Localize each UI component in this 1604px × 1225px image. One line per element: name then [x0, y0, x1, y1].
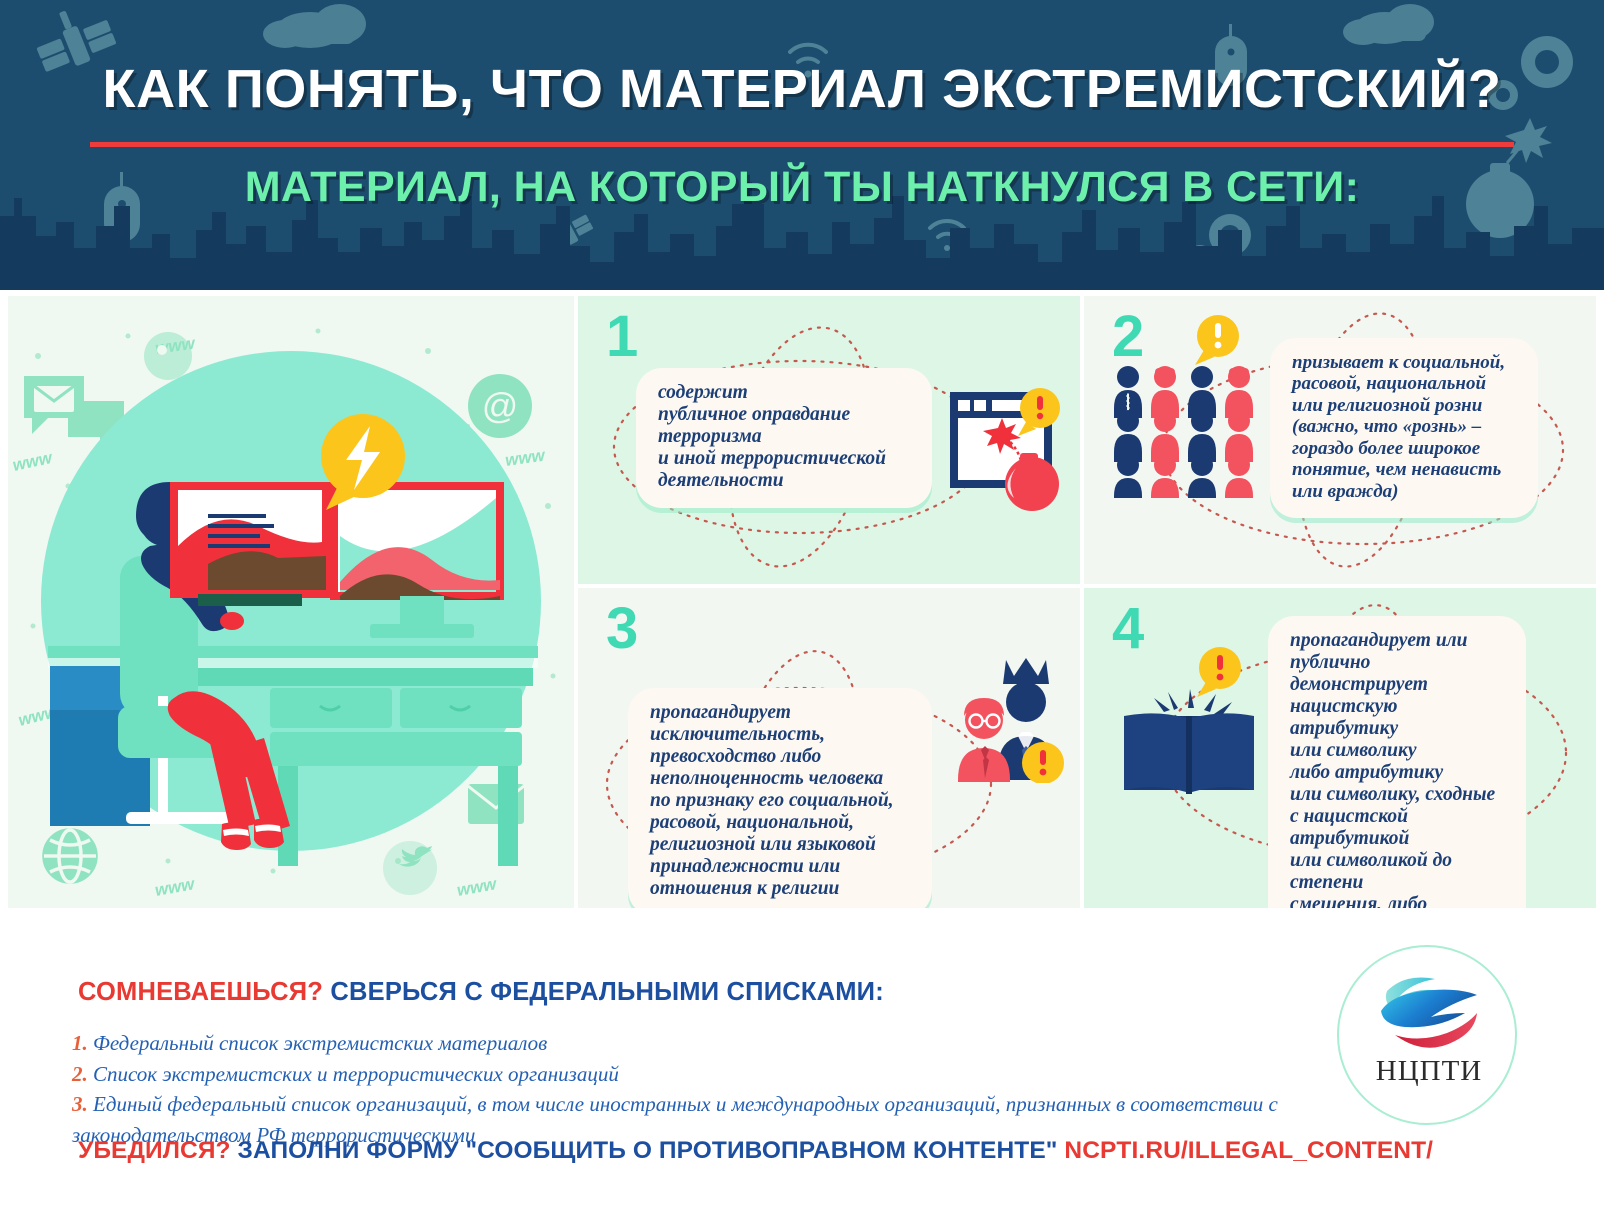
list-item: 2. Список экстремистских и террористичес… — [72, 1059, 1322, 1090]
svg-text:www: www — [504, 445, 548, 470]
footer-cta-url[interactable]: NCPTI.RU/ILLEGAL_CONTENT/ — [1064, 1137, 1433, 1164]
footer-heading-red: СОМНЕВАЕШЬСЯ? — [78, 978, 323, 1006]
globe-icon — [44, 830, 96, 882]
federal-lists: 1. Федеральный список экстремистских мат… — [72, 1028, 1322, 1151]
panel-3-text: пропагандирует исключительность, превосх… — [628, 688, 932, 908]
panel-3-number: 3 — [606, 600, 638, 658]
ncpti-emblem-icon — [1369, 971, 1489, 1063]
panel-2: 2 — [1084, 296, 1596, 584]
content-area: www www www www www www — [8, 296, 1596, 908]
at-sign-icon: @ — [468, 374, 532, 438]
ncpti-logo-text: НЦПТИ — [1339, 1055, 1519, 1088]
footer-heading-blue: СВЕРЬСЯ С ФЕДЕРАЛЬНЫМИ СПИСКАМИ: — [330, 978, 884, 1006]
footer-cta-blue: ЗАПОЛНИ ФОРМУ "СООБЩИТЬ О ПРОТИВОПРАВНОМ… — [238, 1137, 1058, 1164]
footer-cta: УБЕДИЛСЯ? ЗАПОЛНИ ФОРМУ "СООБЩИТЬ О ПРОТ… — [78, 1137, 1433, 1165]
bubble-decoration-icon — [144, 332, 192, 380]
svg-text:www: www — [455, 874, 499, 900]
page-title: КАК ПОНЯТЬ, ЧТО МАТЕРИАЛ ЭКСТРЕМИСТСКИЙ? — [0, 58, 1604, 120]
cloud-icon — [263, 4, 366, 48]
list-item-text: Федеральный список экстремистских матери… — [93, 1031, 547, 1055]
panel-4-text: пропагандирует или публично демонстрируе… — [1268, 616, 1526, 908]
open-book-with-warning-icon — [1112, 638, 1272, 798]
ncpti-logo: НЦПТИ — [1337, 945, 1517, 1125]
infographic-poster: КАК ПОНЯТЬ, ЧТО МАТЕРИАЛ ЭКСТРЕМИСТСКИЙ?… — [0, 0, 1604, 1225]
monitor-left — [174, 486, 326, 606]
svg-text:@: @ — [482, 385, 519, 426]
list-item-index: 1. — [72, 1031, 88, 1055]
panel-4: 4 — [1084, 588, 1596, 908]
panel-1-text: содержит публичное оправдание терроризма… — [636, 368, 932, 508]
panel-2-text: призывает к социальной, расовой, национа… — [1270, 338, 1538, 518]
twitter-bird-icon — [383, 841, 437, 895]
footer-heading: СОМНЕВАЕШЬСЯ? СВЕРЬСЯ С ФЕДЕРАЛЬНЫМИ СПИ… — [78, 978, 884, 1007]
list-item-index: 2. — [72, 1062, 88, 1086]
two-people-with-crown-and-warning-icon — [948, 638, 1078, 783]
footer-cta-red-prefix: УБЕДИЛСЯ? — [78, 1137, 231, 1164]
panel-3: 3 пропагандирует исключительность, прево… — [578, 588, 1080, 908]
www-text: www — [11, 448, 55, 475]
list-item: 1. Федеральный список экстремистских мат… — [72, 1028, 1322, 1059]
crowd-of-people-with-warning-icon — [1106, 308, 1266, 498]
browser-window-with-bomb-icon — [944, 380, 1064, 520]
page-subtitle: МАТЕРИАЛ, НА КОТОРЫЙ ТЫ НАТКНУЛСЯ В СЕТИ… — [0, 163, 1604, 212]
list-item-text: Список экстремистских и террористических… — [93, 1062, 619, 1086]
panel-1: 1 содержит публичное оправдание террориз… — [578, 296, 1080, 584]
list-item-index: 3. — [72, 1092, 88, 1116]
illustration-panel: www www www www www www — [8, 296, 574, 908]
svg-text:www: www — [153, 874, 197, 900]
person-at-desk-illustration: www www www www www www — [8, 296, 574, 908]
envelope-icon — [34, 386, 74, 412]
panel-1-number: 1 — [606, 308, 638, 366]
title-divider — [90, 142, 1514, 147]
header-banner: КАК ПОНЯТЬ, ЧТО МАТЕРИАЛ ЭКСТРЕМИСТСКИЙ?… — [0, 0, 1604, 290]
